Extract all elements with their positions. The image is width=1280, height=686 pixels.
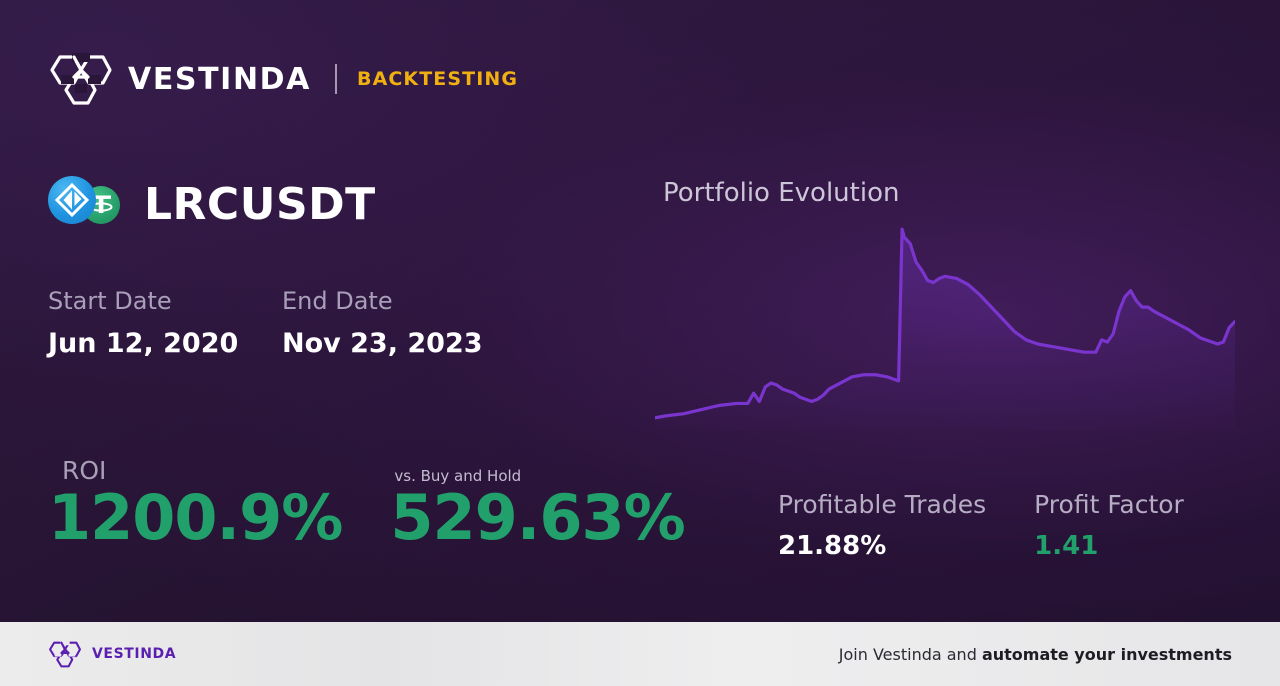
roi-value: 1200.9% (48, 485, 342, 550)
chart-title: Portfolio Evolution (663, 178, 899, 208)
profitable-trades-block: Profitable Trades 21.88% (778, 490, 986, 561)
vestinda-hex-logo-icon (48, 48, 114, 110)
footer-brand-name: VESTINDA (92, 646, 176, 662)
start-date-value: Jun 12, 2020 (48, 328, 282, 359)
buy-hold-value: 529.63% (390, 485, 684, 550)
header: VESTINDA BACKTESTING (48, 48, 518, 110)
header-tag: BACKTESTING (357, 68, 518, 90)
roi-block: ROI 1200.9% (48, 456, 342, 550)
buy-hold-block: vs. Buy and Hold 529.63% (390, 467, 684, 550)
roi-section: ROI 1200.9% vs. Buy and Hold 529.63% (48, 456, 685, 550)
end-date-block: End Date Nov 23, 2023 (282, 286, 483, 359)
footer-cta-strong: automate your investments (982, 645, 1232, 664)
profitable-trades-value: 21.88% (778, 531, 986, 561)
footer: VESTINDA Join Vestinda and automate your… (0, 622, 1280, 686)
date-range: Start Date Jun 12, 2020 End Date Nov 23,… (48, 286, 483, 359)
start-date-block: Start Date Jun 12, 2020 (48, 286, 282, 359)
profit-factor-label: Profit Factor (1034, 490, 1184, 520)
header-divider (335, 64, 337, 94)
stats-section: Profitable Trades 21.88% Profit Factor 1… (778, 490, 1184, 561)
footer-cta-prefix: Join Vestinda and (839, 645, 982, 664)
footer-cta: Join Vestinda and automate your investme… (839, 645, 1232, 664)
profitable-trades-label: Profitable Trades (778, 490, 986, 520)
end-date-label: End Date (282, 286, 483, 316)
loopring-coin-icon (48, 176, 96, 224)
pair-title-row: LRCUSDT (48, 176, 376, 232)
profit-factor-value: 1.41 (1034, 531, 1184, 561)
coin-pair-icons (48, 176, 130, 232)
brand-name: VESTINDA (128, 62, 311, 97)
portfolio-evolution-chart (655, 215, 1235, 430)
end-date-value: Nov 23, 2023 (282, 328, 483, 359)
footer-brand: VESTINDA (48, 638, 176, 670)
pair-symbol: LRCUSDT (144, 179, 376, 230)
profit-factor-block: Profit Factor 1.41 (1034, 490, 1184, 561)
start-date-label: Start Date (48, 286, 282, 316)
vestinda-hex-logo-icon (48, 638, 82, 670)
backtesting-report-card: VESTINDA BACKTESTING (0, 0, 1280, 686)
